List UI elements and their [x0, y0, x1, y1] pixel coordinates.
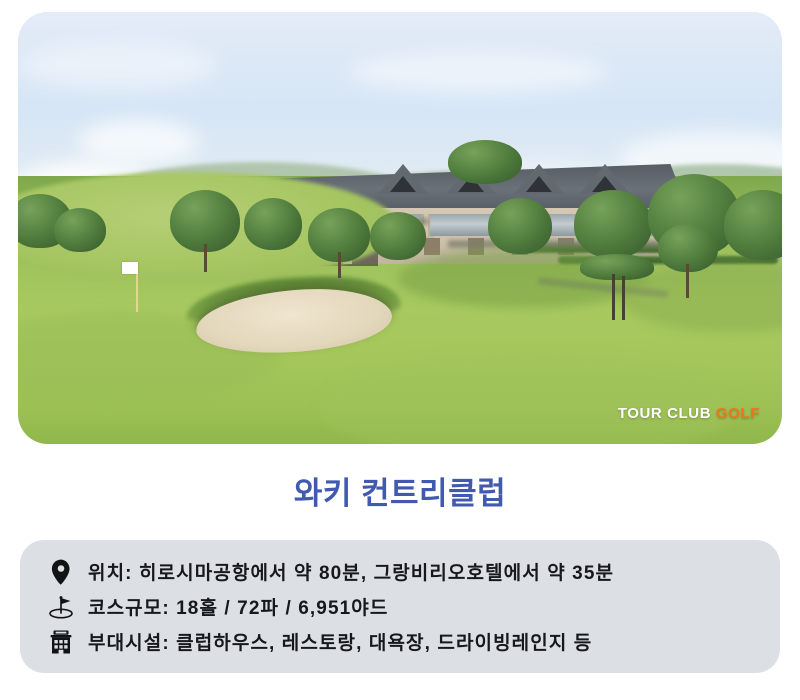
- tree-trunk: [338, 252, 341, 278]
- watermark-accent-text: GOLF: [716, 405, 760, 422]
- tree: [170, 190, 240, 252]
- golf-flag-icon: [46, 592, 76, 622]
- tree-trunk: [686, 264, 689, 298]
- info-row-location: 위치: 히로시마공항에서 약 80분, 그랑비리오호텔에서 약 35분: [20, 554, 780, 589]
- ornamental-tree: [580, 254, 654, 280]
- tree-trunk: [612, 274, 615, 320]
- info-text-course-size: 코스규모: 18홀 / 72파 / 6,951야드: [88, 593, 388, 620]
- cloud: [18, 42, 218, 90]
- tree-trunk: [622, 276, 625, 320]
- page-title: 와키 컨트리클럽: [0, 468, 800, 513]
- watermark-primary-text: TOUR CLUB: [618, 405, 711, 422]
- watermark: TOUR CLUB GOLF: [618, 405, 760, 422]
- tree: [244, 198, 302, 250]
- info-text-location: 위치: 히로시마공항에서 약 80분, 그랑비리오호텔에서 약 35분: [88, 558, 614, 585]
- cloud: [78, 120, 198, 164]
- info-text-facilities: 부대시설: 클럽하우스, 레스토랑, 대욕장, 드라이빙레인지 등: [88, 628, 592, 655]
- map-pin-icon: [46, 557, 76, 587]
- golf-course-info-card: TOUR CLUB GOLF 와키 컨트리클럽 위치: 히로시마공항에서 약 8…: [0, 0, 800, 700]
- tree-trunk: [204, 244, 207, 272]
- tree: [448, 140, 522, 184]
- flag-icon: [122, 262, 138, 274]
- info-row-facilities: 부대시설: 클럽하우스, 레스토랑, 대욕장, 드라이빙레인지 등: [20, 624, 780, 659]
- tree: [54, 208, 106, 252]
- facade-awning: [424, 238, 440, 255]
- info-row-course-size: 코스규모: 18홀 / 72파 / 6,951야드: [20, 589, 780, 624]
- course-photo: TOUR CLUB GOLF: [18, 12, 782, 444]
- cloud: [348, 52, 608, 92]
- hotel-building-icon: [46, 627, 76, 657]
- tree: [574, 190, 652, 258]
- tree: [488, 198, 552, 254]
- tree: [370, 212, 426, 260]
- course-info-panel: 위치: 히로시마공항에서 약 80분, 그랑비리오호텔에서 약 35분 코스규모…: [20, 540, 780, 673]
